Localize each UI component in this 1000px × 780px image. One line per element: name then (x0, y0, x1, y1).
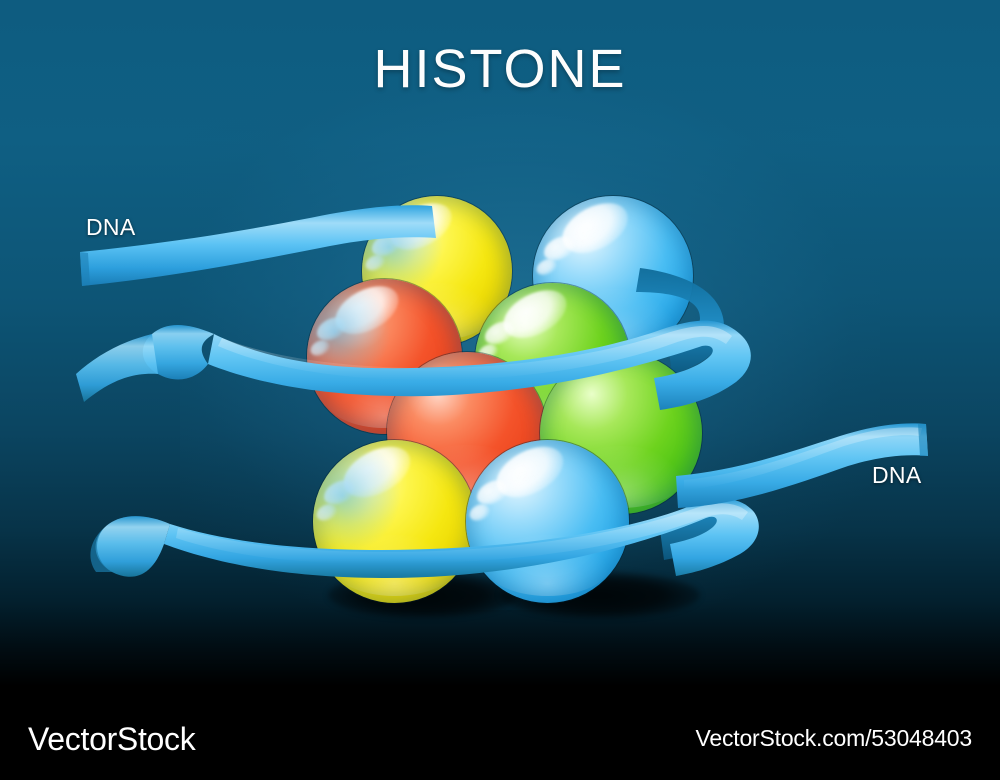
dna-ribbon-front (0, 0, 1000, 780)
illustration-canvas: HISTONE (0, 0, 1000, 780)
